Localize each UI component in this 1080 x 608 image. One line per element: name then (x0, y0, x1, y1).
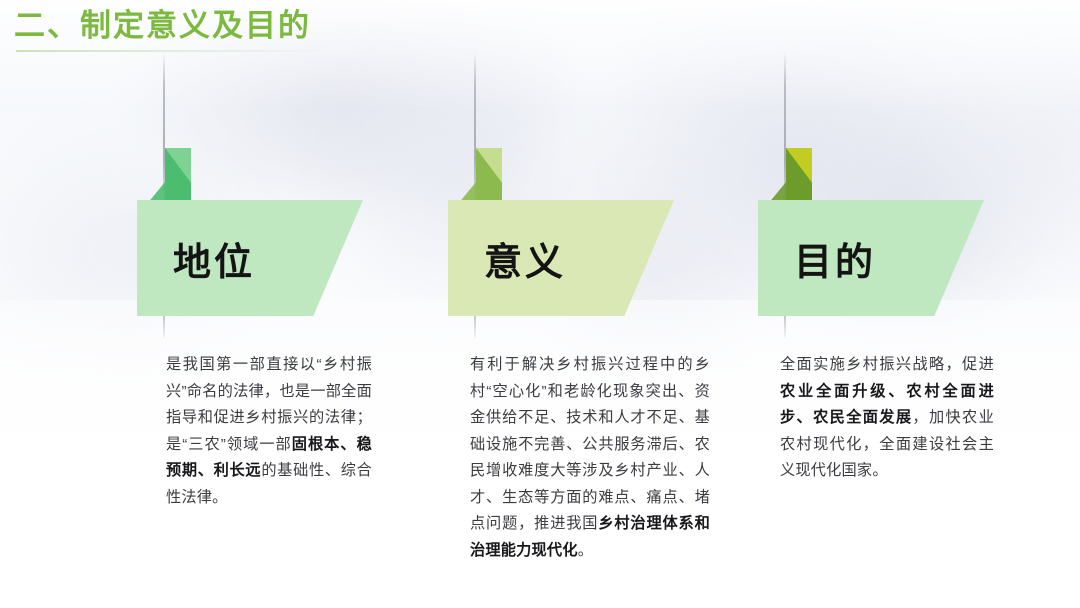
page-title: 二、制定意义及目的 (14, 6, 311, 46)
banner-purpose[interactable]: 目的 (758, 200, 984, 316)
body-text-significance: 有利于解决乡村振兴过程中的乡村“空心化”和老龄化现象突出、资金供给不足、技术和人… (470, 352, 710, 564)
slide-heading: 二、制定意义及目的 (14, 6, 311, 46)
banner-significance[interactable]: 意义 (448, 200, 674, 316)
ribbon-fold-icon (476, 148, 502, 204)
body-text-status: 是我国第一部直接以“乡村振兴”命名的法律，也是一部全面指导和促进乡村振兴的法律；… (166, 352, 372, 511)
banner-label: 地位 (173, 231, 255, 286)
title-underline (16, 50, 338, 52)
banner-pole-lower (474, 316, 476, 338)
banner-pole-lower (163, 316, 165, 338)
banner-label: 意义 (484, 231, 566, 286)
ribbon-fold-icon (786, 148, 812, 204)
banner-status[interactable]: 地位 (137, 200, 363, 316)
ribbon-fold-icon (165, 148, 191, 204)
content-columns: 地位 是我国第一部直接以“乡村振兴”命名的法律，也是一部全面指导和促进乡村振兴的… (0, 0, 1080, 608)
banner-label: 目的 (794, 231, 876, 286)
banner-pole-lower (784, 316, 786, 338)
body-text-purpose: 全面实施乡村振兴战略，促进农业全面升级、农村全面进步、农民全面发展，加快农业农村… (780, 352, 994, 485)
